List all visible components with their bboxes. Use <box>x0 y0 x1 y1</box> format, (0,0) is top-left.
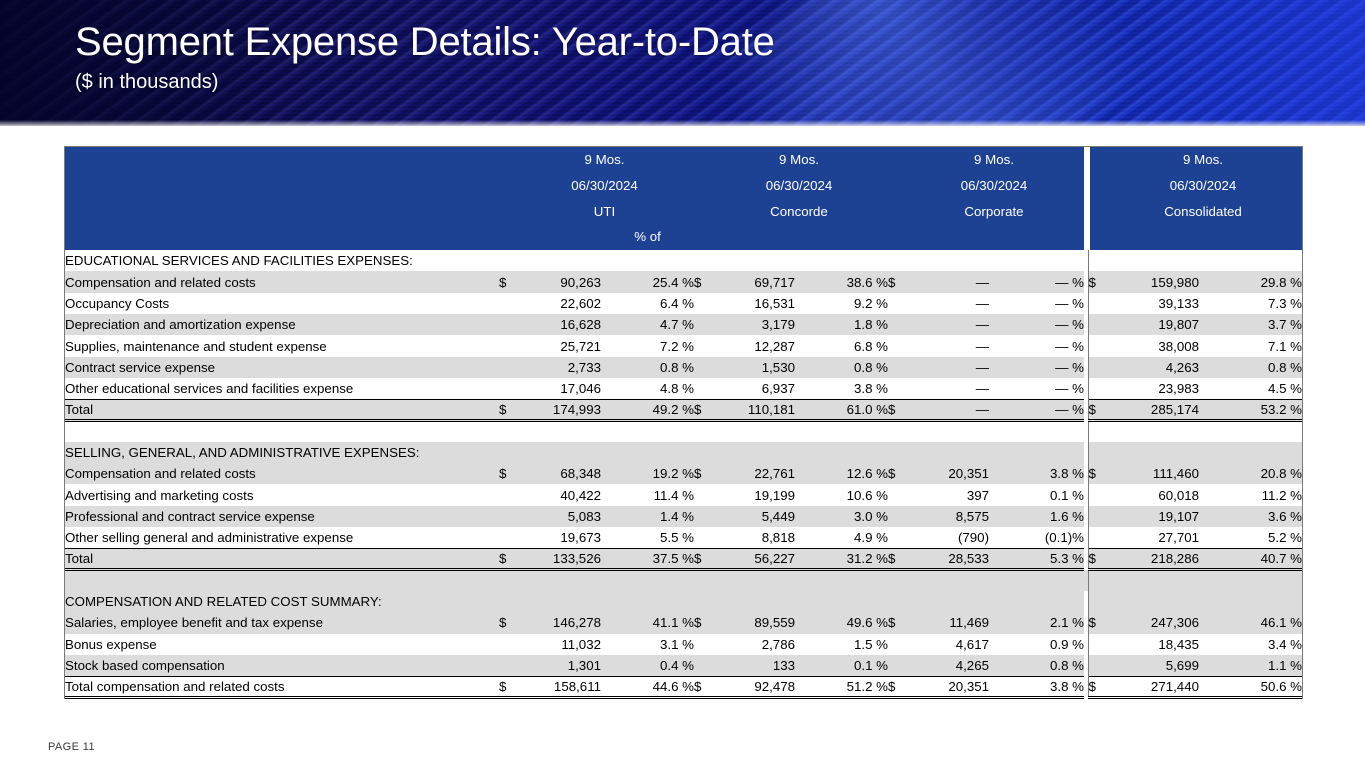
table-row: Compensation and related costs$68,34819.… <box>65 463 1302 484</box>
row-corporate-percent-0-3: — % <box>989 335 1084 356</box>
row-corporate-percent-0-5: — % <box>989 378 1084 399</box>
row-corporate-value-2-1: 4,617 <box>904 634 989 655</box>
row-consolidated-currency-2-0: $ <box>1088 612 1104 633</box>
row-consolidated-percent-1-total: 40.7 % <box>1199 548 1302 569</box>
section-heading-pad-2-3 <box>694 591 710 612</box>
row-consolidated-currency-0-4 <box>1088 357 1104 378</box>
spacer-cell-2-9 <box>989 570 1084 591</box>
header-consol-cur-3 <box>1088 199 1104 225</box>
page-subtitle: ($ in thousands) <box>75 70 218 94</box>
section-heading-pad-0-7 <box>904 250 989 271</box>
row-consolidated-percent-2-total: 50.6 % <box>1199 676 1302 697</box>
row-concorde-value-1-total: 56,227 <box>710 548 795 569</box>
subheader-uti-pct: % of <box>601 224 694 250</box>
spacer-cell-2-8 <box>904 570 989 591</box>
table-row: Contract service expense2,7330.8 %1,5300… <box>65 357 1302 378</box>
row-concorde-percent-2-2: 0.1 % <box>795 655 888 676</box>
header-utipct-cur-1 <box>694 147 710 173</box>
header-corp-cur-3 <box>888 199 904 225</box>
header-uti-cur-1 <box>499 147 515 173</box>
section-heading-1: SELLING, GENERAL, AND ADMINISTRATIVE EXP… <box>65 442 499 463</box>
row-consolidated-percent-2-1: 3.4 % <box>1199 634 1302 655</box>
header-uti-line3: UTI <box>515 199 694 225</box>
table-spacer-row <box>65 570 1302 591</box>
section-heading-pad2-2-0 <box>1104 591 1199 612</box>
spacer-cell-2-2 <box>515 570 601 591</box>
table-row: Bonus expense11,0323.1 %2,7861.5 %4,6170… <box>65 634 1302 655</box>
row-label-0-total: Total <box>65 399 499 420</box>
row-consolidated-percent-0-1: 7.3 % <box>1199 293 1302 314</box>
section-heading-pad-2-4 <box>710 591 795 612</box>
section-heading-pad-1-1 <box>515 442 601 463</box>
header-concorde-line1: 9 Mos. <box>710 147 888 173</box>
subheader-c1 <box>499 224 515 250</box>
row-concorde-value-1-3: 8,818 <box>710 527 795 548</box>
spacer-cell-1-5 <box>710 421 795 442</box>
row-consolidated-currency-0-0: $ <box>1088 271 1104 292</box>
row-corporate-value-0-4: — <box>904 357 989 378</box>
row-consolidated-currency-0-3 <box>1088 335 1104 356</box>
spacer-cell2-1-1 <box>1199 421 1302 442</box>
row-consolidated-percent-1-2: 3.6 % <box>1199 506 1302 527</box>
row-uti-percent-0-4: 0.8 % <box>601 357 694 378</box>
row-uti-currency-0-5 <box>499 378 515 399</box>
spacer-cell-1-9 <box>989 421 1084 442</box>
row-uti-value-0-5: 17,046 <box>515 378 601 399</box>
header-consolidated-line2: 06/30/2024 <box>1104 173 1302 199</box>
spacer-cell-1-8 <box>904 421 989 442</box>
row-uti-percent-1-total: 37.5 % <box>601 548 694 569</box>
subheader-blank <box>65 224 499 250</box>
row-corporate-currency-1-2 <box>888 506 904 527</box>
row-consolidated-percent-0-5: 4.5 % <box>1199 378 1302 399</box>
row-concorde-currency-2-0: $ <box>694 612 710 633</box>
table-body: EDUCATIONAL SERVICES AND FACILITIES EXPE… <box>65 250 1302 697</box>
section-heading-pad-0-0 <box>499 250 515 271</box>
section-heading-2: COMPENSATION AND RELATED COST SUMMARY: <box>65 591 499 612</box>
row-concorde-percent-1-0: 12.6 % <box>795 463 888 484</box>
row-concorde-currency-1-total: $ <box>694 548 710 569</box>
row-consolidated-value-0-2: 19,807 <box>1104 314 1199 335</box>
row-uti-percent-0-2: 4.7 % <box>601 314 694 335</box>
row-concorde-currency-0-total: $ <box>694 399 710 420</box>
row-concorde-currency-1-2 <box>694 506 710 527</box>
row-uti-currency-1-0: $ <box>499 463 515 484</box>
row-concorde-currency-0-2 <box>694 314 710 335</box>
table-total-row: Total$174,99349.2 %$110,18161.0 %$—— %$2… <box>65 399 1302 420</box>
header-row-line3: UTI Concorde Corporate Consolidated <box>65 199 1302 225</box>
header-concorde-line2: 06/30/2024 <box>710 173 888 199</box>
row-uti-value-2-0: 146,278 <box>515 612 601 633</box>
row-concorde-value-0-0: 69,717 <box>710 271 795 292</box>
table-row: Professional and contract service expens… <box>65 506 1302 527</box>
row-corporate-value-1-3: (790) <box>904 527 989 548</box>
row-corporate-percent-1-total: 5.3 % <box>989 548 1084 569</box>
row-concorde-percent-2-0: 49.6 % <box>795 612 888 633</box>
row-uti-percent-2-0: 41.1 % <box>601 612 694 633</box>
row-consolidated-value-1-1: 60,018 <box>1104 484 1199 505</box>
row-corporate-percent-0-total: — % <box>989 399 1084 420</box>
section-heading-pad2-2-1 <box>1199 591 1302 612</box>
table-row: Other educational services and facilitie… <box>65 378 1302 399</box>
spacer-cell2-1-0 <box>1104 421 1199 442</box>
segment-expense-table: 9 Mos. 9 Mos. 9 Mos. 9 Mos. 06/30/2024 0… <box>65 147 1302 699</box>
row-concorde-value-0-total: 110,181 <box>710 399 795 420</box>
row-concorde-currency-1-0: $ <box>694 463 710 484</box>
table-row: Depreciation and amortization expense16,… <box>65 314 1302 335</box>
banner-bottom-fade <box>0 120 1365 126</box>
row-uti-value-2-total: 158,611 <box>515 676 601 697</box>
section-heading-pad-1-7 <box>904 442 989 463</box>
page-title: Segment Expense Details: Year-to-Date <box>75 18 775 67</box>
spacer-cell-1-3 <box>601 421 694 442</box>
row-uti-percent-0-total: 49.2 % <box>601 399 694 420</box>
section-heading-pad-2-1 <box>515 591 601 612</box>
row-corporate-currency-2-0: $ <box>888 612 904 633</box>
row-uti-value-0-2: 16,628 <box>515 314 601 335</box>
row-uti-currency-2-2 <box>499 655 515 676</box>
row-label-0-3: Supplies, maintenance and student expens… <box>65 335 499 356</box>
row-uti-value-2-2: 1,301 <box>515 655 601 676</box>
row-corporate-percent-2-0: 2.1 % <box>989 612 1084 633</box>
row-consolidated-currency-1-0: $ <box>1088 463 1104 484</box>
row-corporate-percent-1-0: 3.8 % <box>989 463 1084 484</box>
row-corporate-currency-1-1 <box>888 484 904 505</box>
row-uti-value-0-total: 174,993 <box>515 399 601 420</box>
row-consolidated-percent-0-3: 7.1 % <box>1199 335 1302 356</box>
row-concorde-percent-2-total: 51.2 % <box>795 676 888 697</box>
row-corporate-percent-2-2: 0.8 % <box>989 655 1084 676</box>
section-heading-pad-1-6 <box>888 442 904 463</box>
row-uti-value-0-1: 22,602 <box>515 293 601 314</box>
subheader-uti-val <box>515 224 601 250</box>
header-concorde-line3: Concorde <box>710 199 888 225</box>
row-label-1-0: Compensation and related costs <box>65 463 499 484</box>
header-consol-cur-2 <box>1088 173 1104 199</box>
section-heading-pad-1-5 <box>795 442 888 463</box>
row-uti-currency-1-1 <box>499 484 515 505</box>
row-consolidated-percent-0-2: 3.7 % <box>1199 314 1302 335</box>
section-heading-sep-0 <box>1088 250 1104 271</box>
row-corporate-currency-1-total: $ <box>888 548 904 569</box>
subheader-tot-val <box>1104 224 1199 250</box>
row-concorde-value-0-5: 6,937 <box>710 378 795 399</box>
section-heading-pad-1-0 <box>499 442 515 463</box>
row-concorde-value-2-1: 2,786 <box>710 634 795 655</box>
row-label-2-2: Stock based compensation <box>65 655 499 676</box>
row-uti-value-1-total: 133,526 <box>515 548 601 569</box>
row-label-1-total: Total <box>65 548 499 569</box>
row-concorde-currency-1-3 <box>694 527 710 548</box>
row-concorde-percent-1-1: 10.6 % <box>795 484 888 505</box>
row-consolidated-percent-1-3: 5.2 % <box>1199 527 1302 548</box>
table-total-row: Total compensation and related costs$158… <box>65 676 1302 697</box>
row-corporate-value-1-1: 397 <box>904 484 989 505</box>
row-label-0-0: Compensation and related costs <box>65 271 499 292</box>
header-consolidated-line3: Consolidated <box>1104 199 1302 225</box>
row-corporate-percent-2-total: 3.8 % <box>989 676 1084 697</box>
row-uti-value-2-1: 11,032 <box>515 634 601 655</box>
row-uti-value-0-0: 90,263 <box>515 271 601 292</box>
spacer-cell-1-7 <box>888 421 904 442</box>
row-concorde-currency-0-1 <box>694 293 710 314</box>
row-concorde-value-0-1: 16,531 <box>710 293 795 314</box>
row-consolidated-value-1-0: 111,460 <box>1104 463 1199 484</box>
spacer-cell-2-3 <box>601 570 694 591</box>
row-corporate-value-0-total: — <box>904 399 989 420</box>
section-heading-pad-0-8 <box>989 250 1084 271</box>
row-uti-value-1-0: 68,348 <box>515 463 601 484</box>
row-uti-currency-0-3 <box>499 335 515 356</box>
row-consolidated-currency-2-2 <box>1088 655 1104 676</box>
row-concorde-percent-0-4: 0.8 % <box>795 357 888 378</box>
row-concorde-value-1-0: 22,761 <box>710 463 795 484</box>
row-concorde-currency-0-0: $ <box>694 271 710 292</box>
row-consolidated-currency-2-1 <box>1088 634 1104 655</box>
row-uti-currency-2-0: $ <box>499 612 515 633</box>
row-consolidated-value-0-5: 23,983 <box>1104 378 1199 399</box>
section-heading-pad-0-4 <box>710 250 795 271</box>
spacer-cell-2-6 <box>795 570 888 591</box>
row-consolidated-value-0-total: 285,174 <box>1104 399 1199 420</box>
section-heading-pad-0-1 <box>515 250 601 271</box>
row-consolidated-percent-0-4: 0.8 % <box>1199 357 1302 378</box>
row-concorde-percent-1-total: 31.2 % <box>795 548 888 569</box>
row-label-0-1: Occupancy Costs <box>65 293 499 314</box>
row-concorde-currency-0-5 <box>694 378 710 399</box>
banner-right-highlight <box>1135 0 1365 126</box>
header-uti-cur-3 <box>499 199 515 225</box>
row-label-2-0: Salaries, employee benefit and tax expen… <box>65 612 499 633</box>
row-consolidated-value-0-0: 159,980 <box>1104 271 1199 292</box>
row-consolidated-percent-2-2: 1.1 % <box>1199 655 1302 676</box>
row-consolidated-value-1-2: 19,107 <box>1104 506 1199 527</box>
row-consolidated-percent-1-1: 11.2 % <box>1199 484 1302 505</box>
section-heading-sep-1 <box>1088 442 1104 463</box>
spacer-cell-1-2 <box>515 421 601 442</box>
table-header: 9 Mos. 9 Mos. 9 Mos. 9 Mos. 06/30/2024 0… <box>65 147 1302 250</box>
row-corporate-value-0-0: — <box>904 271 989 292</box>
row-label-0-2: Depreciation and amortization expense <box>65 314 499 335</box>
row-corporate-value-2-2: 4,265 <box>904 655 989 676</box>
row-uti-value-1-1: 40,422 <box>515 484 601 505</box>
table-section-heading-row: EDUCATIONAL SERVICES AND FACILITIES EXPE… <box>65 250 1302 271</box>
row-consolidated-currency-1-total: $ <box>1088 548 1104 569</box>
header-corp-cur-2 <box>888 173 904 199</box>
header-consol-cur-1 <box>1088 147 1104 173</box>
row-concorde-currency-1-1 <box>694 484 710 505</box>
header-utipct-cur-2 <box>694 173 710 199</box>
row-corporate-currency-1-3 <box>888 527 904 548</box>
row-concorde-percent-0-1: 9.2 % <box>795 293 888 314</box>
row-corporate-currency-0-4 <box>888 357 904 378</box>
header-corporate-line3: Corporate <box>904 199 1084 225</box>
table-section-heading-row: SELLING, GENERAL, AND ADMINISTRATIVE EXP… <box>65 442 1302 463</box>
row-corporate-currency-0-1 <box>888 293 904 314</box>
spacer-cell-1-4 <box>694 421 710 442</box>
row-consolidated-currency-0-1 <box>1088 293 1104 314</box>
spacer-cell-2-0 <box>65 570 499 591</box>
row-consolidated-value-2-2: 5,699 <box>1104 655 1199 676</box>
row-uti-currency-0-1 <box>499 293 515 314</box>
section-heading-pad-2-2 <box>601 591 694 612</box>
row-corporate-value-2-total: 20,351 <box>904 676 989 697</box>
section-heading-pad2-0-0 <box>1104 250 1199 271</box>
header-uti-line2: 06/30/2024 <box>515 173 694 199</box>
section-heading-pad-1-3 <box>694 442 710 463</box>
row-corporate-value-1-total: 28,533 <box>904 548 989 569</box>
row-consolidated-value-0-3: 38,008 <box>1104 335 1199 356</box>
section-heading-0: EDUCATIONAL SERVICES AND FACILITIES EXPE… <box>65 250 499 271</box>
section-heading-pad-1-2 <box>601 442 694 463</box>
row-uti-value-1-2: 5,083 <box>515 506 601 527</box>
spacer-sep-2 <box>1088 570 1104 591</box>
row-uti-percent-0-0: 25.4 % <box>601 271 694 292</box>
row-corporate-percent-0-4: — % <box>989 357 1084 378</box>
row-consolidated-currency-1-1 <box>1088 484 1104 505</box>
row-concorde-currency-2-2 <box>694 655 710 676</box>
row-corporate-currency-0-0: $ <box>888 271 904 292</box>
section-heading-pad-1-4 <box>710 442 795 463</box>
header-corporate-line1: 9 Mos. <box>904 147 1084 173</box>
header-consolidated-line1: 9 Mos. <box>1104 147 1302 173</box>
row-corporate-currency-0-total: $ <box>888 399 904 420</box>
row-concorde-value-2-total: 92,478 <box>710 676 795 697</box>
row-uti-value-0-4: 2,733 <box>515 357 601 378</box>
spacer-cell-1-1 <box>499 421 515 442</box>
row-corporate-percent-0-0: — % <box>989 271 1084 292</box>
section-heading-pad-2-7 <box>904 591 989 612</box>
row-label-0-5: Other educational services and facilitie… <box>65 378 499 399</box>
row-concorde-percent-0-total: 61.0 % <box>795 399 888 420</box>
section-heading-pad-1-8 <box>989 442 1084 463</box>
table-row: Occupancy Costs22,6026.4 %16,5319.2 %—— … <box>65 293 1302 314</box>
header-uti-line1: 9 Mos. <box>515 147 694 173</box>
spacer-cell-1-0 <box>65 421 499 442</box>
row-concorde-percent-2-1: 1.5 % <box>795 634 888 655</box>
header-blank-1 <box>65 147 499 173</box>
header-utipct-cur-3 <box>694 199 710 225</box>
row-corporate-value-0-1: — <box>904 293 989 314</box>
row-uti-currency-1-total: $ <box>499 548 515 569</box>
table-total-row: Total$133,52637.5 %$56,22731.2 %$28,5335… <box>65 548 1302 569</box>
row-concorde-percent-0-5: 3.8 % <box>795 378 888 399</box>
row-concorde-currency-0-3 <box>694 335 710 356</box>
table-row: Stock based compensation1,3010.4 %1330.1… <box>65 655 1302 676</box>
row-uti-percent-0-5: 4.8 % <box>601 378 694 399</box>
header-corporate-line2: 06/30/2024 <box>904 173 1084 199</box>
row-corporate-percent-1-2: 1.6 % <box>989 506 1084 527</box>
row-consolidated-value-2-1: 18,435 <box>1104 634 1199 655</box>
row-uti-currency-0-0: $ <box>499 271 515 292</box>
row-consolidated-percent-2-0: 46.1 % <box>1199 612 1302 633</box>
row-label-1-2: Professional and contract service expens… <box>65 506 499 527</box>
row-corporate-currency-2-1 <box>888 634 904 655</box>
header-subcolumn-row: % of <box>65 224 1302 250</box>
row-uti-percent-0-1: 6.4 % <box>601 293 694 314</box>
page-number-footer: PAGE 11 <box>48 741 95 753</box>
row-corporate-value-0-3: — <box>904 335 989 356</box>
row-uti-percent-1-3: 5.5 % <box>601 527 694 548</box>
row-consolidated-currency-0-2 <box>1088 314 1104 335</box>
row-corporate-currency-0-2 <box>888 314 904 335</box>
spacer-cell-2-7 <box>888 570 904 591</box>
row-concorde-currency-2-total: $ <box>694 676 710 697</box>
row-consolidated-value-2-0: 247,306 <box>1104 612 1199 633</box>
subheader-tot-pct <box>1199 224 1302 250</box>
row-uti-currency-0-4 <box>499 357 515 378</box>
row-uti-percent-1-0: 19.2 % <box>601 463 694 484</box>
row-corporate-percent-1-3: (0.1)% <box>989 527 1084 548</box>
row-concorde-value-2-2: 133 <box>710 655 795 676</box>
row-uti-percent-2-2: 0.4 % <box>601 655 694 676</box>
header-blank-2 <box>65 173 499 199</box>
row-concorde-value-0-3: 12,287 <box>710 335 795 356</box>
row-concorde-currency-0-4 <box>694 357 710 378</box>
expense-table-container: 9 Mos. 9 Mos. 9 Mos. 9 Mos. 06/30/2024 0… <box>64 146 1303 699</box>
spacer-cell2-2-1 <box>1199 570 1302 591</box>
row-consolidated-percent-0-0: 29.8 % <box>1199 271 1302 292</box>
row-consolidated-value-0-1: 39,133 <box>1104 293 1199 314</box>
row-corporate-currency-2-total: $ <box>888 676 904 697</box>
subheader-con-pct <box>795 224 888 250</box>
section-heading-pad2-1-1 <box>1199 442 1302 463</box>
row-consolidated-percent-1-0: 20.8 % <box>1199 463 1302 484</box>
row-concorde-percent-0-3: 6.8 % <box>795 335 888 356</box>
row-corporate-currency-1-0: $ <box>888 463 904 484</box>
row-concorde-value-2-0: 89,559 <box>710 612 795 633</box>
section-heading-pad-2-8 <box>989 591 1084 612</box>
row-uti-currency-1-3 <box>499 527 515 548</box>
row-uti-currency-0-2 <box>499 314 515 335</box>
row-consolidated-value-0-4: 4,263 <box>1104 357 1199 378</box>
row-uti-percent-1-1: 11.4 % <box>601 484 694 505</box>
section-heading-pad-2-0 <box>499 591 515 612</box>
row-label-0-4: Contract service expense <box>65 357 499 378</box>
row-uti-currency-0-total: $ <box>499 399 515 420</box>
section-heading-pad-0-6 <box>888 250 904 271</box>
row-uti-value-1-3: 19,673 <box>515 527 601 548</box>
row-concorde-percent-0-2: 1.8 % <box>795 314 888 335</box>
row-uti-currency-2-1 <box>499 634 515 655</box>
section-heading-pad-0-3 <box>694 250 710 271</box>
row-concorde-percent-0-0: 38.6 % <box>795 271 888 292</box>
row-corporate-currency-0-5 <box>888 378 904 399</box>
subheader-c3 <box>888 224 904 250</box>
header-corp-cur-1 <box>888 147 904 173</box>
row-corporate-percent-0-1: — % <box>989 293 1084 314</box>
row-corporate-currency-2-2 <box>888 655 904 676</box>
row-corporate-percent-1-1: 0.1 % <box>989 484 1084 505</box>
table-section-heading-row: COMPENSATION AND RELATED COST SUMMARY: <box>65 591 1302 612</box>
header-blank-3 <box>65 199 499 225</box>
section-heading-pad-0-2 <box>601 250 694 271</box>
table-row: Compensation and related costs$90,26325.… <box>65 271 1302 292</box>
table-spacer-row <box>65 421 1302 442</box>
section-heading-pad-2-5 <box>795 591 888 612</box>
spacer-cell-2-1 <box>499 570 515 591</box>
row-concorde-percent-1-2: 3.0 % <box>795 506 888 527</box>
subheader-c4 <box>1088 224 1104 250</box>
row-concorde-value-1-1: 19,199 <box>710 484 795 505</box>
row-corporate-percent-0-2: — % <box>989 314 1084 335</box>
spacer-sep-1 <box>1088 421 1104 442</box>
row-label-2-total: Total compensation and related costs <box>65 676 499 697</box>
header-row-line2: 06/30/2024 06/30/2024 06/30/2024 06/30/2… <box>65 173 1302 199</box>
row-corporate-currency-0-3 <box>888 335 904 356</box>
row-uti-percent-0-3: 7.2 % <box>601 335 694 356</box>
row-uti-currency-1-2 <box>499 506 515 527</box>
